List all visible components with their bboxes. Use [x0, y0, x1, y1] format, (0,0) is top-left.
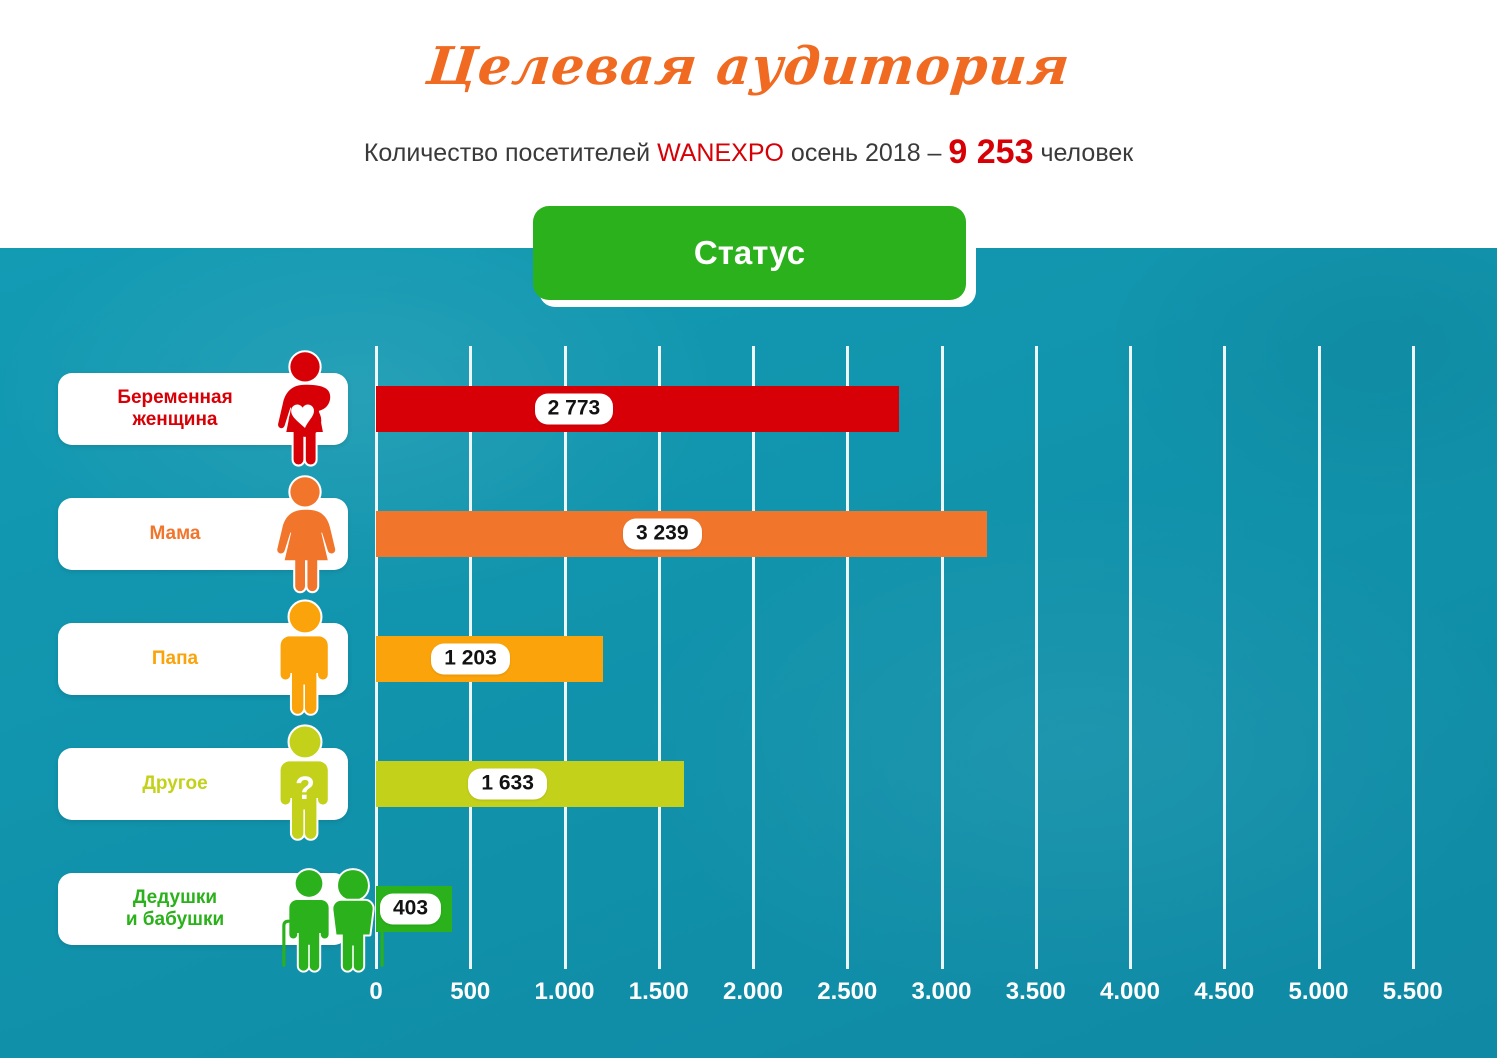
bar-value-label: 1 203 [431, 644, 510, 675]
axis-tick-label: 4.500 [1194, 978, 1254, 1006]
axis-tick-label: 1.500 [629, 978, 689, 1006]
infographic-stage: Целевая аудитория Количество посетителей… [0, 0, 1497, 1058]
mother-icon-wrapper [264, 474, 346, 592]
axis-tick-label: 2.000 [723, 978, 783, 1006]
gridline [846, 346, 849, 969]
question-mark-icon: ? [264, 724, 346, 842]
gridline [658, 346, 661, 969]
axis-tick-label: 5.000 [1288, 978, 1348, 1006]
bar: 403 [376, 886, 452, 932]
gridline [1412, 346, 1415, 969]
subtitle: Количество посетителей WANEXPO осень 201… [0, 133, 1497, 172]
gridline [1318, 346, 1321, 969]
status-button-label: Статус [694, 234, 805, 272]
other-person-icon-wrapper: ? [264, 724, 346, 842]
father-icon-wrapper [264, 599, 346, 717]
grandparents-icon [276, 861, 386, 979]
axis-tick-label: 2.500 [817, 978, 877, 1006]
pregnant-heart-icon [264, 349, 346, 467]
bar: 1 633 [376, 761, 684, 807]
axis-tick-label: 500 [450, 978, 490, 1006]
category-row[interactable]: Папа [58, 623, 348, 695]
category-label: Беременная женщина [70, 373, 280, 445]
category-label: Папа [70, 623, 280, 695]
gridline [1129, 346, 1132, 969]
category-row[interactable]: Мама [58, 498, 348, 570]
axis-tick-label: 4.000 [1100, 978, 1160, 1006]
subtitle-brand: WANEXPO [657, 139, 784, 167]
status-button-container: Статус [533, 206, 976, 307]
category-row[interactable]: Дедушки и бабушки [58, 873, 348, 945]
subtitle-suffix: человек [1034, 139, 1134, 167]
category-label: Мама [70, 498, 280, 570]
category-label: Другое [70, 748, 280, 820]
gridline [941, 346, 944, 969]
status-button[interactable]: Статус [533, 206, 966, 300]
bar-value-label: 403 [380, 894, 441, 925]
axis-tick-label: 0 [369, 978, 382, 1006]
subtitle-middle: осень 2018 – [784, 139, 948, 167]
page-title: Целевая аудитория [0, 36, 1497, 97]
grandparents-icon-wrapper [276, 861, 358, 979]
bar: 2 773 [376, 386, 899, 432]
bar: 1 203 [376, 636, 603, 682]
bar-value-label: 2 773 [535, 394, 614, 425]
svg-text:?: ? [295, 770, 315, 806]
father-icon [264, 599, 346, 717]
category-label: Дедушки и бабушки [70, 873, 280, 945]
bar-value-label: 3 239 [623, 519, 702, 550]
axis-tick-label: 5.500 [1383, 978, 1443, 1006]
bar: 3 239 [376, 511, 987, 557]
axis-tick-label: 3.000 [911, 978, 971, 1006]
bar-value-label: 1 633 [468, 769, 547, 800]
gridline [1035, 346, 1038, 969]
cane-right [377, 921, 382, 965]
subtitle-number: 9 253 [948, 133, 1033, 171]
axis-tick-label: 1.000 [534, 978, 594, 1006]
pregnant-woman-icon-wrapper [264, 349, 346, 467]
axis-tick-label: 3.500 [1006, 978, 1066, 1006]
category-row[interactable]: Другое? [58, 748, 348, 820]
subtitle-prefix: Количество посетителей [364, 139, 657, 167]
gridline [752, 346, 755, 969]
category-row[interactable]: Беременная женщина [58, 373, 348, 445]
mother-icon [264, 474, 346, 592]
gridline [1223, 346, 1226, 969]
